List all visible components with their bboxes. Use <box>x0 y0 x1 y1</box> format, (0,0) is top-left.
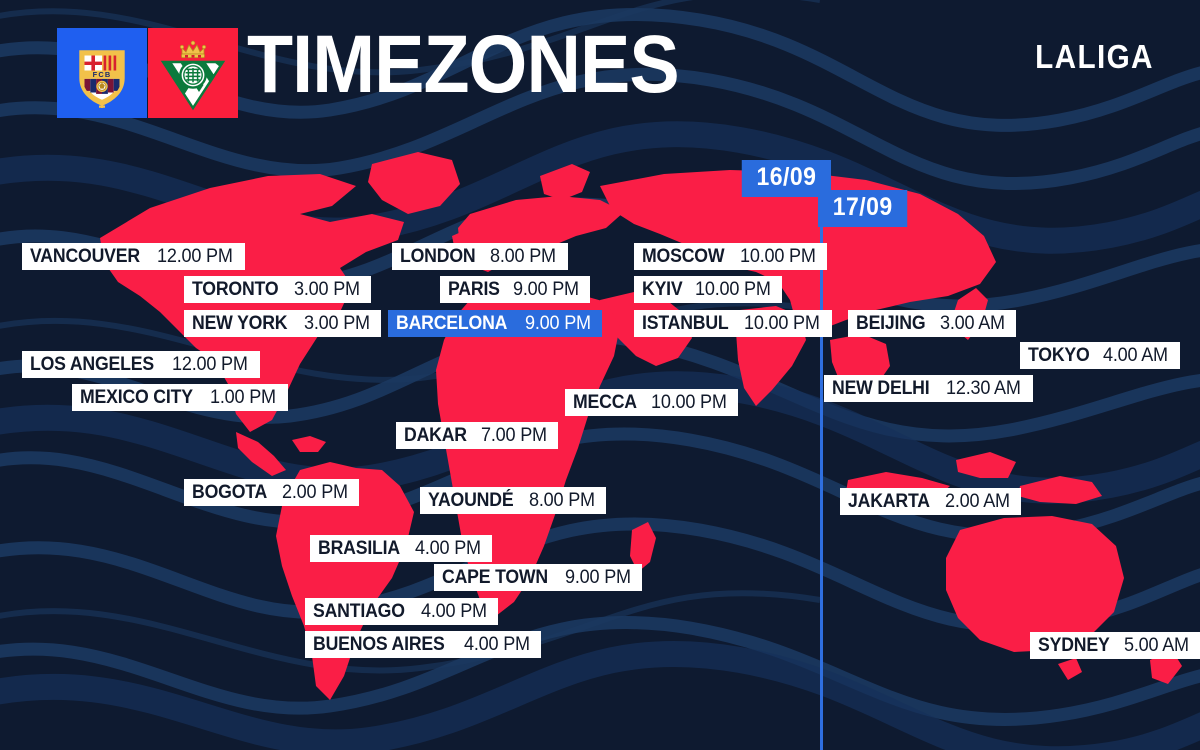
city-time: 3.00 AM <box>940 314 1005 333</box>
city-time-label: PARIS9.00 PM <box>440 276 590 303</box>
city-name: TOKYO <box>1028 346 1090 365</box>
real-betis-crest <box>148 28 238 118</box>
city-name: BUENOS AIRES <box>313 635 445 654</box>
city-time: 9.00 PM <box>525 314 591 333</box>
city-time-label: JAKARTA2.00 AM <box>840 488 1021 515</box>
city-time-label: LONDON8.00 PM <box>392 243 568 270</box>
city-time: 4.00 AM <box>1103 346 1168 365</box>
timezones-graphic: 16/09 17/09 FCB <box>0 0 1200 750</box>
city-name: PARIS <box>448 280 500 299</box>
svg-text:FCB: FCB <box>93 70 112 79</box>
city-time: 3.00 PM <box>294 280 360 299</box>
city-time: 9.00 PM <box>565 568 631 587</box>
city-name: JAKARTA <box>848 492 930 511</box>
fc-barcelona-crest: FCB <box>57 28 147 118</box>
city-time-label: BRASILIA4.00 PM <box>310 535 492 562</box>
city-name: SANTIAGO <box>313 602 405 621</box>
city-time: 8.00 PM <box>529 491 595 510</box>
city-time: 10.00 PM <box>744 314 820 333</box>
city-time: 3.00 PM <box>304 314 370 333</box>
city-time: 10.00 PM <box>695 280 771 299</box>
city-name: NEW DELHI <box>832 379 929 398</box>
city-time: 7.00 PM <box>481 426 547 445</box>
city-name: NEW YORK <box>192 314 287 333</box>
date-badge-after: 17/09 <box>818 190 907 227</box>
city-name: MOSCOW <box>642 247 724 266</box>
city-name: DAKAR <box>404 426 467 445</box>
city-time-label: SYDNEY5.00 AM <box>1030 632 1200 659</box>
city-time-label: DAKAR7.00 PM <box>396 422 558 449</box>
city-time-label: BOGOTA2.00 PM <box>184 479 359 506</box>
city-name: LONDON <box>400 247 475 266</box>
city-time-label: MEXICO CITY1.00 PM <box>72 384 288 411</box>
city-time-label: LOS ANGELES12.00 PM <box>22 351 260 378</box>
city-name: BOGOTA <box>192 483 267 502</box>
city-time: 12.00 PM <box>157 247 233 266</box>
page-title: TIMEZONES <box>247 24 679 106</box>
city-time-label: NEW DELHI12.30 AM <box>824 375 1033 402</box>
city-time-label: CAPE TOWN9.00 PM <box>434 564 642 591</box>
city-time-label: BEIJING3.00 AM <box>848 310 1016 337</box>
city-name: BEIJING <box>856 314 925 333</box>
city-name: BARCELONA <box>396 314 507 333</box>
city-name: BRASILIA <box>318 539 400 558</box>
city-name: MEXICO CITY <box>80 388 193 407</box>
city-name: TORONTO <box>192 280 278 299</box>
city-name: LOS ANGELES <box>30 355 154 374</box>
city-name: YAOUNDÉ <box>428 491 513 510</box>
city-name: CAPE TOWN <box>442 568 548 587</box>
city-time: 9.00 PM <box>513 280 579 299</box>
city-time: 4.00 PM <box>421 602 487 621</box>
city-name: VANCOUVER <box>30 247 140 266</box>
city-time: 10.00 PM <box>651 393 727 412</box>
city-time: 5.00 AM <box>1124 636 1189 655</box>
city-name: SYDNEY <box>1038 636 1110 655</box>
city-time-label: BUENOS AIRES4.00 PM <box>305 631 541 658</box>
city-time-label: TORONTO3.00 PM <box>184 276 371 303</box>
city-time-label: MOSCOW10.00 PM <box>634 243 827 270</box>
city-time: 12.30 AM <box>946 379 1021 398</box>
city-time-label: SANTIAGO4.00 PM <box>305 598 498 625</box>
city-time: 2.00 PM <box>282 483 348 502</box>
city-time-label: YAOUNDÉ8.00 PM <box>420 487 606 514</box>
city-time: 4.00 PM <box>415 539 481 558</box>
city-name: MECCA <box>573 393 637 412</box>
city-time-label: TOKYO4.00 AM <box>1020 342 1180 369</box>
city-time-label: BARCELONA9.00 PM <box>388 310 602 337</box>
city-time: 2.00 AM <box>945 492 1010 511</box>
city-time: 12.00 PM <box>172 355 248 374</box>
city-time-label: ISTANBUL10.00 PM <box>634 310 832 337</box>
city-time-label: KYIV10.00 PM <box>634 276 782 303</box>
laliga-logo: LALIGA <box>1035 38 1154 76</box>
city-name: KYIV <box>642 280 682 299</box>
city-time-label: VANCOUVER12.00 PM <box>22 243 245 270</box>
city-time: 8.00 PM <box>490 247 556 266</box>
city-time-label: MECCA10.00 PM <box>565 389 738 416</box>
city-time: 4.00 PM <box>464 635 530 654</box>
city-time: 10.00 PM <box>740 247 816 266</box>
city-time: 1.00 PM <box>210 388 276 407</box>
city-name: ISTANBUL <box>642 314 729 333</box>
city-time-label: NEW YORK3.00 PM <box>184 310 381 337</box>
